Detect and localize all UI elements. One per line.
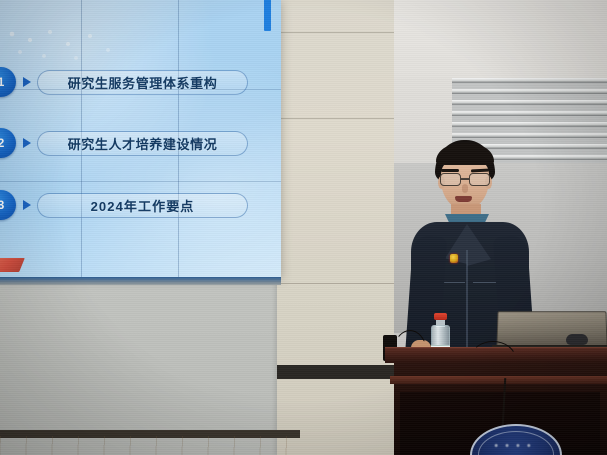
screen-tile-seam <box>0 181 281 182</box>
mouse-device[interactable] <box>566 334 588 345</box>
agenda-label-3: 2024年工作要点 <box>91 196 195 215</box>
agenda-item-1[interactable]: 1 研究生服务管理体系重构 <box>0 65 248 99</box>
glasses-bridge <box>461 178 469 180</box>
agenda-label-2: 研究生人才培养建设情况 <box>68 134 218 153</box>
agenda-item-2[interactable]: 2 研究生人才培养建设情况 <box>0 126 248 160</box>
presentation-photo: 1 研究生服务管理体系重构 2 研究生人才培养建设情况 3 2024年工作要点 <box>0 0 607 455</box>
screen-bezel <box>0 277 281 285</box>
arrow-right-icon <box>23 200 31 210</box>
eyebrow-left <box>441 169 459 172</box>
laptop-screen[interactable] <box>496 311 607 349</box>
wall-seam <box>277 32 397 33</box>
crest-glyphs: •••• <box>472 440 560 452</box>
dot-pattern-decoration <box>6 28 124 62</box>
agenda-item-3[interactable]: 3 2024年工作要点 <box>0 188 248 222</box>
lens-left <box>440 173 461 186</box>
wall-seam <box>277 118 397 119</box>
wall-right-upper <box>394 0 607 78</box>
projection-screen: 1 研究生服务管理体系重构 2 研究生人才培养建设情况 3 2024年工作要点 <box>0 0 281 277</box>
agenda-pill-3[interactable]: 2024年工作要点 <box>37 193 248 218</box>
bottle-cap[interactable] <box>434 313 447 320</box>
accent-bar-icon <box>264 0 271 31</box>
wall-middle-panel <box>277 0 397 455</box>
podium-lip <box>390 376 607 384</box>
arrow-right-icon <box>23 138 31 148</box>
agenda-number-badge-3: 3 <box>0 190 16 220</box>
agenda-number-badge-1: 1 <box>0 67 16 97</box>
agenda-pill-1[interactable]: 研究生服务管理体系重构 <box>37 70 248 95</box>
lens-right <box>469 173 490 186</box>
wall-seam <box>277 283 397 284</box>
party-emblem-pin-icon <box>450 254 458 263</box>
arrow-right-icon <box>23 77 31 87</box>
nose <box>462 184 468 193</box>
agenda-pill-2[interactable]: 研究生人才培养建设情况 <box>37 131 248 156</box>
hair-fringe <box>436 143 494 165</box>
mouth <box>455 196 472 202</box>
floor-grain <box>0 436 300 455</box>
agenda-number-badge-2: 2 <box>0 128 16 158</box>
agenda-label-1: 研究生服务管理体系重构 <box>68 73 218 92</box>
